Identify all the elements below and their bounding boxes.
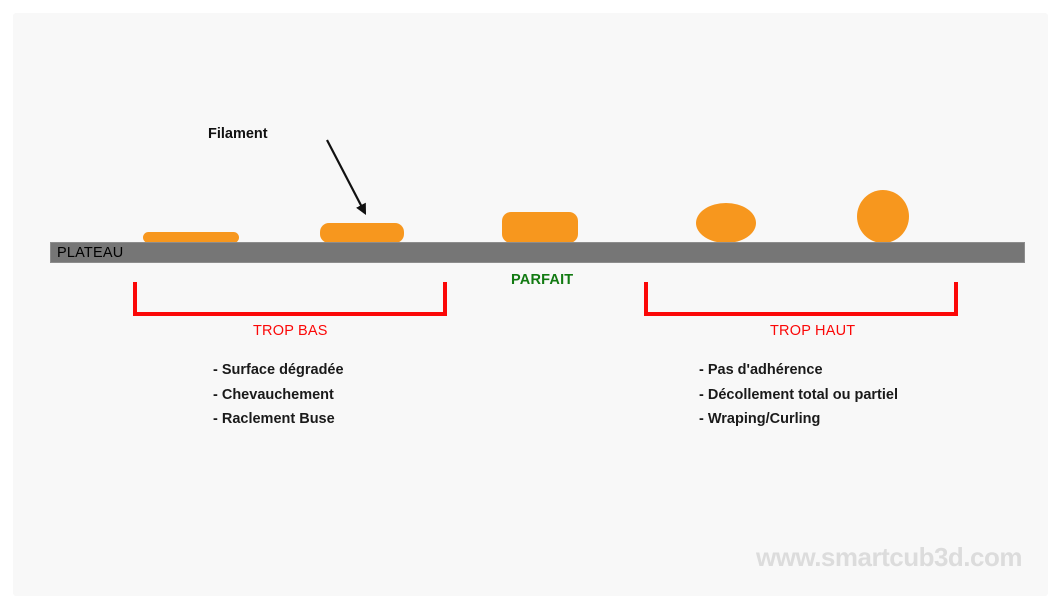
plateau-label: PLATEAU	[57, 245, 123, 260]
list-item: - Pas d'adhérence	[699, 358, 898, 383]
issue-list-trop-bas: - Surface dégradée - Chevauchement - Rac…	[213, 358, 344, 432]
zone-label-parfait: PARFAIT	[511, 272, 573, 288]
filament-blob-4-trop-haut	[696, 203, 756, 243]
zone-bracket-trop-haut	[644, 282, 958, 316]
filament-blob-2-trop-bas	[320, 223, 404, 243]
list-item: - Décollement total ou partiel	[699, 383, 898, 408]
list-item: - Raclement Buse	[213, 407, 344, 432]
filament-pointer-arrow-icon	[313, 123, 393, 233]
zone-label-trop-bas: TROP BAS	[253, 323, 328, 339]
diagram-content-area: Filament PLATEAU PARFAIT TROP BAS TROP H…	[13, 13, 1048, 596]
list-item: - Surface dégradée	[213, 358, 344, 383]
filament-blob-3-parfait	[502, 212, 578, 243]
filament-blob-5-trop-haut	[857, 190, 909, 243]
list-item: - Wraping/Curling	[699, 407, 898, 432]
plateau-bar: PLATEAU	[50, 242, 1025, 263]
zone-bracket-trop-bas	[133, 282, 447, 316]
zone-label-trop-haut: TROP HAUT	[770, 323, 855, 339]
filament-annotation-label: Filament	[208, 126, 268, 142]
issue-list-trop-haut: - Pas d'adhérence - Décollement total ou…	[699, 358, 898, 432]
diagram-canvas: Filament PLATEAU PARFAIT TROP BAS TROP H…	[0, 0, 1061, 616]
site-watermark: www.smartcub3d.com	[756, 542, 1022, 573]
list-item: - Chevauchement	[213, 383, 344, 408]
